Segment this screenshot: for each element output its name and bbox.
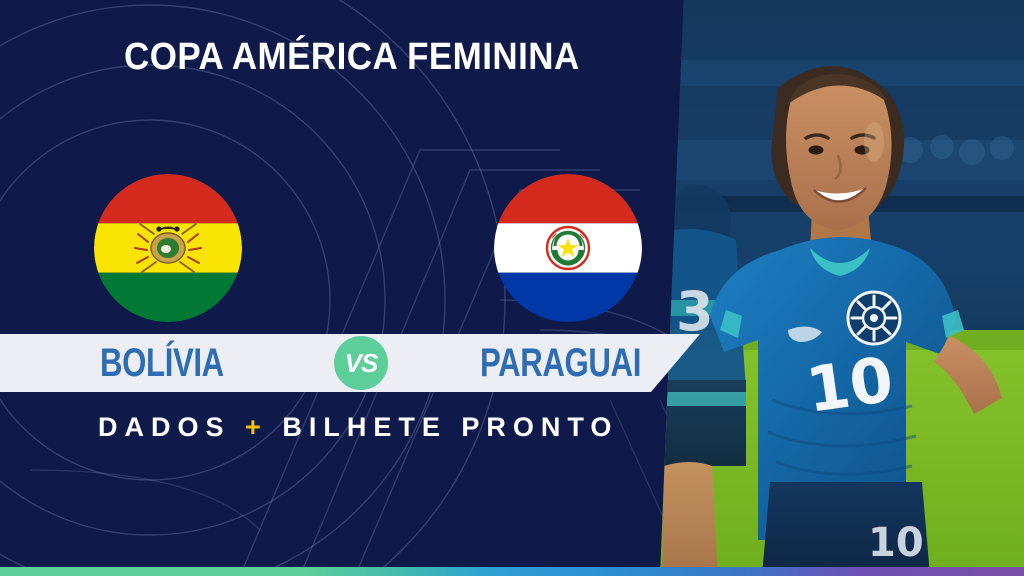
away-team-name: PARAGUAI	[480, 340, 641, 386]
promo-banner: 3	[0, 0, 1024, 576]
subtitle-plus: +	[245, 412, 268, 442]
home-team-name: BOLÍVIA	[100, 340, 224, 386]
footer: TVBET betnacional 18 + Jogue com Respons…	[0, 496, 1024, 576]
subtitle-part2: BILHETE PRONTO	[282, 412, 618, 442]
vs-badge: VS	[334, 336, 388, 390]
svg-text:3: 3	[676, 280, 714, 343]
bottom-gradient-bar	[0, 567, 1024, 576]
vs-label: VS	[345, 348, 378, 379]
subtitle-part1: DADOS	[98, 412, 231, 442]
subtitle: DADOS + BILHETE PRONTO	[98, 412, 618, 443]
bolivia-flag	[94, 174, 242, 322]
player-photo: 3	[660, 0, 1024, 576]
paraguay-flag	[494, 174, 642, 322]
page-title: COPA AMÉRICA FEMININA	[124, 38, 580, 76]
